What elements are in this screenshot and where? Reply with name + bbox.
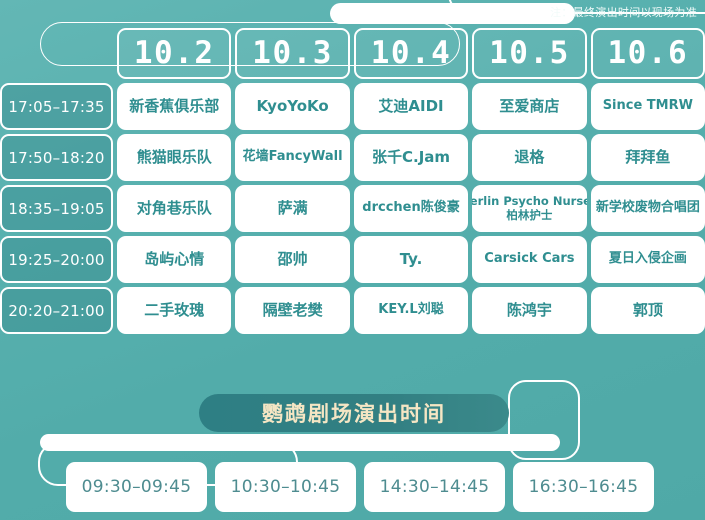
act-name: 夏日入侵企画 [609,252,687,266]
theatre-slot[interactable]: 09:30–09:45 [66,462,207,512]
date-header-10-3[interactable]: 10.3 [235,28,349,79]
act-cell[interactable]: KyoYoKo [235,83,349,130]
act-name: 隔壁老樊 [263,302,323,318]
act-name: 艾迪AIDI [378,98,443,114]
date-header-label: 10.6 [608,38,689,69]
act-cell[interactable]: 新学校废物合唱团 [591,185,705,232]
time-slot-cell: 19:25–20:00 [0,236,113,283]
date-header-label: 10.4 [371,38,452,69]
act-cell[interactable]: Berlin Psycho Nurses 柏林护士 [472,185,586,232]
act-name: 新香蕉俱乐部 [129,98,219,114]
schedule-row: 18:35–19:05 对角巷乐队 萨满 drcchen陈俊豪 Berlin P… [0,185,705,232]
act-cell[interactable]: Since TMRW [591,83,705,130]
schedule-row: 20:20–21:00 二手玫瑰 隔壁老樊 KEY.L刘聪 陈鸿宇 郭顶 [0,287,705,334]
act-name: 花墙FancyWall [243,150,343,164]
act-cell[interactable]: Carsick Cars [472,236,586,283]
date-header-10-5[interactable]: 10.5 [472,28,586,79]
act-name-chinese: 柏林护士 [506,209,552,223]
date-header-label: 10.3 [252,38,333,69]
theatre-banner: 鹦鹉剧场演出时间 [199,394,509,432]
theatre-slot-label: 10:30–10:45 [231,477,341,497]
theatre-slot[interactable]: 10:30–10:45 [215,462,356,512]
act-cell[interactable]: 拜拜鱼 [591,134,705,181]
act-cell[interactable]: 对角巷乐队 [117,185,231,232]
date-header-10-4[interactable]: 10.4 [354,28,468,79]
theatre-slot[interactable]: 14:30–14:45 [364,462,505,512]
act-name: 拜拜鱼 [625,149,670,165]
date-header-10-2[interactable]: 10.2 [117,28,231,79]
time-slot-label: 17:05–17:35 [8,98,104,116]
act-cell[interactable]: 艾迪AIDI [354,83,468,130]
act-cell[interactable]: Ty. [354,236,468,283]
time-slot-label: 18:35–19:05 [8,200,104,218]
act-cell[interactable]: 萨满 [235,185,349,232]
act-name: 岛屿心情 [144,251,204,267]
act-cell[interactable]: 岛屿心情 [117,236,231,283]
date-header-label: 10.5 [489,38,570,69]
date-header-10-6[interactable]: 10.6 [591,28,705,79]
theatre-slot-label: 14:30–14:45 [380,477,490,497]
act-cell[interactable]: 花墙FancyWall [235,134,349,181]
deco-bar-top [330,3,575,24]
theatre-slot[interactable]: 16:30–16:45 [513,462,654,512]
act-cell[interactable]: 陈鸿宇 [472,287,586,334]
schedule-note: 注：最终演出时间以现场为准 [550,4,697,20]
act-name: Carsick Cars [484,252,574,266]
schedule-grid: 10.2 10.3 10.4 10.5 10.6 17:05–17:35 新香蕉… [0,28,705,338]
act-cell[interactable]: drcchen陈俊豪 [354,185,468,232]
act-cell[interactable]: 隔壁老樊 [235,287,349,334]
act-name: 张千C.Jam [372,149,450,165]
act-name: 熊猫眼乐队 [137,149,212,165]
act-name: 郭顶 [633,302,663,318]
time-column-header-spacer [0,28,113,79]
act-cell[interactable]: 至爱商店 [472,83,586,130]
date-header-row: 10.2 10.3 10.4 10.5 10.6 [0,28,705,79]
time-slot-cell: 17:50–18:20 [0,134,113,181]
act-name: 退格 [514,149,544,165]
act-name: Ty. [400,251,423,267]
theatre-slot-label: 09:30–09:45 [82,477,192,497]
act-cell[interactable]: 郭顶 [591,287,705,334]
act-cell[interactable]: 熊猫眼乐队 [117,134,231,181]
act-name: 陈鸿宇 [507,302,552,318]
act-name: 新学校废物合唱团 [596,201,700,215]
act-name: 二手玫瑰 [144,302,204,318]
act-name: KEY.L刘聪 [378,303,443,317]
act-name: drcchen陈俊豪 [362,201,459,215]
act-cell[interactable]: KEY.L刘聪 [354,287,468,334]
act-cell[interactable]: 邵帅 [235,236,349,283]
act-cell[interactable]: 夏日入侵企画 [591,236,705,283]
theatre-slot-label: 16:30–16:45 [529,477,639,497]
time-slot-label: 19:25–20:00 [8,251,104,269]
act-cell[interactable]: 张千C.Jam [354,134,468,181]
time-slot-cell: 20:20–21:00 [0,287,113,334]
act-name: 至爱商店 [499,98,559,114]
act-name: 萨满 [278,200,308,216]
act-cell[interactable]: 新香蕉俱乐部 [117,83,231,130]
theatre-slot-row: 09:30–09:45 10:30–10:45 14:30–14:45 16:3… [66,462,654,512]
act-cell[interactable]: 退格 [472,134,586,181]
act-name: Since TMRW [603,99,693,113]
time-slot-label: 20:20–21:00 [8,302,104,320]
act-name-latin: Berlin Psycho Nurses [472,195,586,209]
time-slot-cell: 18:35–19:05 [0,185,113,232]
act-name: 邵帅 [278,251,308,267]
date-header-label: 10.2 [134,38,215,69]
act-cell[interactable]: 二手玫瑰 [117,287,231,334]
theatre-banner-title: 鹦鹉剧场演出时间 [262,398,446,428]
act-name: KyoYoKo [257,98,329,114]
time-slot-label: 17:50–18:20 [8,149,104,167]
schedule-row: 19:25–20:00 岛屿心情 邵帅 Ty. Carsick Cars 夏日入… [0,236,705,283]
time-slot-cell: 17:05–17:35 [0,83,113,130]
schedule-row: 17:05–17:35 新香蕉俱乐部 KyoYoKo 艾迪AIDI 至爱商店 S… [0,83,705,130]
schedule-row: 17:50–18:20 熊猫眼乐队 花墙FancyWall 张千C.Jam 退格… [0,134,705,181]
act-name: 对角巷乐队 [137,200,212,216]
theatre-section: 鹦鹉剧场演出时间 09:30–09:45 10:30–10:45 14:30–1… [0,372,705,520]
